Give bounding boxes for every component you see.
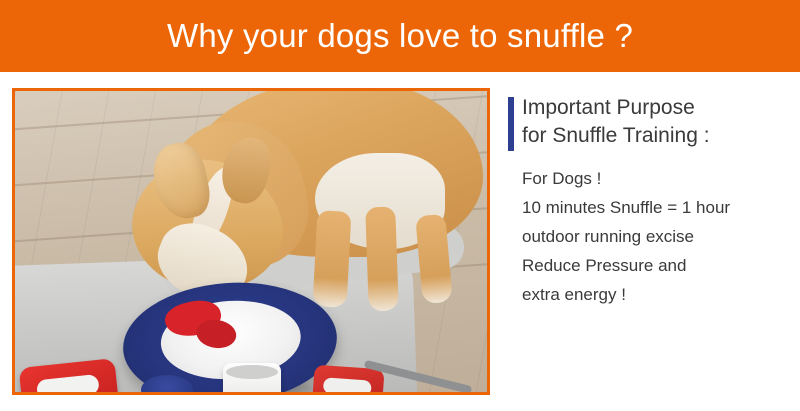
promo-banner-page: Why your dogs love to snuffle ? <box>0 0 800 411</box>
panel-heading: Important Purpose for Snuffle Training : <box>508 94 790 150</box>
panel-body-line: Reduce Pressure and <box>522 251 790 280</box>
accent-bar <box>508 97 514 151</box>
photo-scene <box>15 91 487 392</box>
dog-leg <box>365 207 399 312</box>
panel-body-line: extra energy ! <box>522 280 790 309</box>
panel-heading-line-1: Important Purpose <box>522 94 790 122</box>
panel-body-line: For Dogs ! <box>522 164 790 193</box>
white-bowl-toy <box>223 363 281 392</box>
header-banner: Why your dogs love to snuffle ? <box>0 0 800 72</box>
panel-body-line: 10 minutes Snuffle = 1 hour <box>522 193 790 222</box>
panel-heading-line-2: for Snuffle Training : <box>522 122 790 150</box>
dog-leg <box>313 210 352 308</box>
toy-slot <box>323 377 372 392</box>
panel-body: For Dogs ! 10 minutes Snuffle = 1 hour o… <box>508 164 790 309</box>
toy-slot <box>36 374 100 392</box>
panel-body-line: outdoor running excise <box>522 222 790 251</box>
page-title: Why your dogs love to snuffle ? <box>167 17 633 55</box>
info-panel: Important Purpose for Snuffle Training :… <box>508 94 790 309</box>
product-photo <box>12 88 490 395</box>
bowl-rim <box>226 365 278 379</box>
content-area: Important Purpose for Snuffle Training :… <box>0 72 800 411</box>
